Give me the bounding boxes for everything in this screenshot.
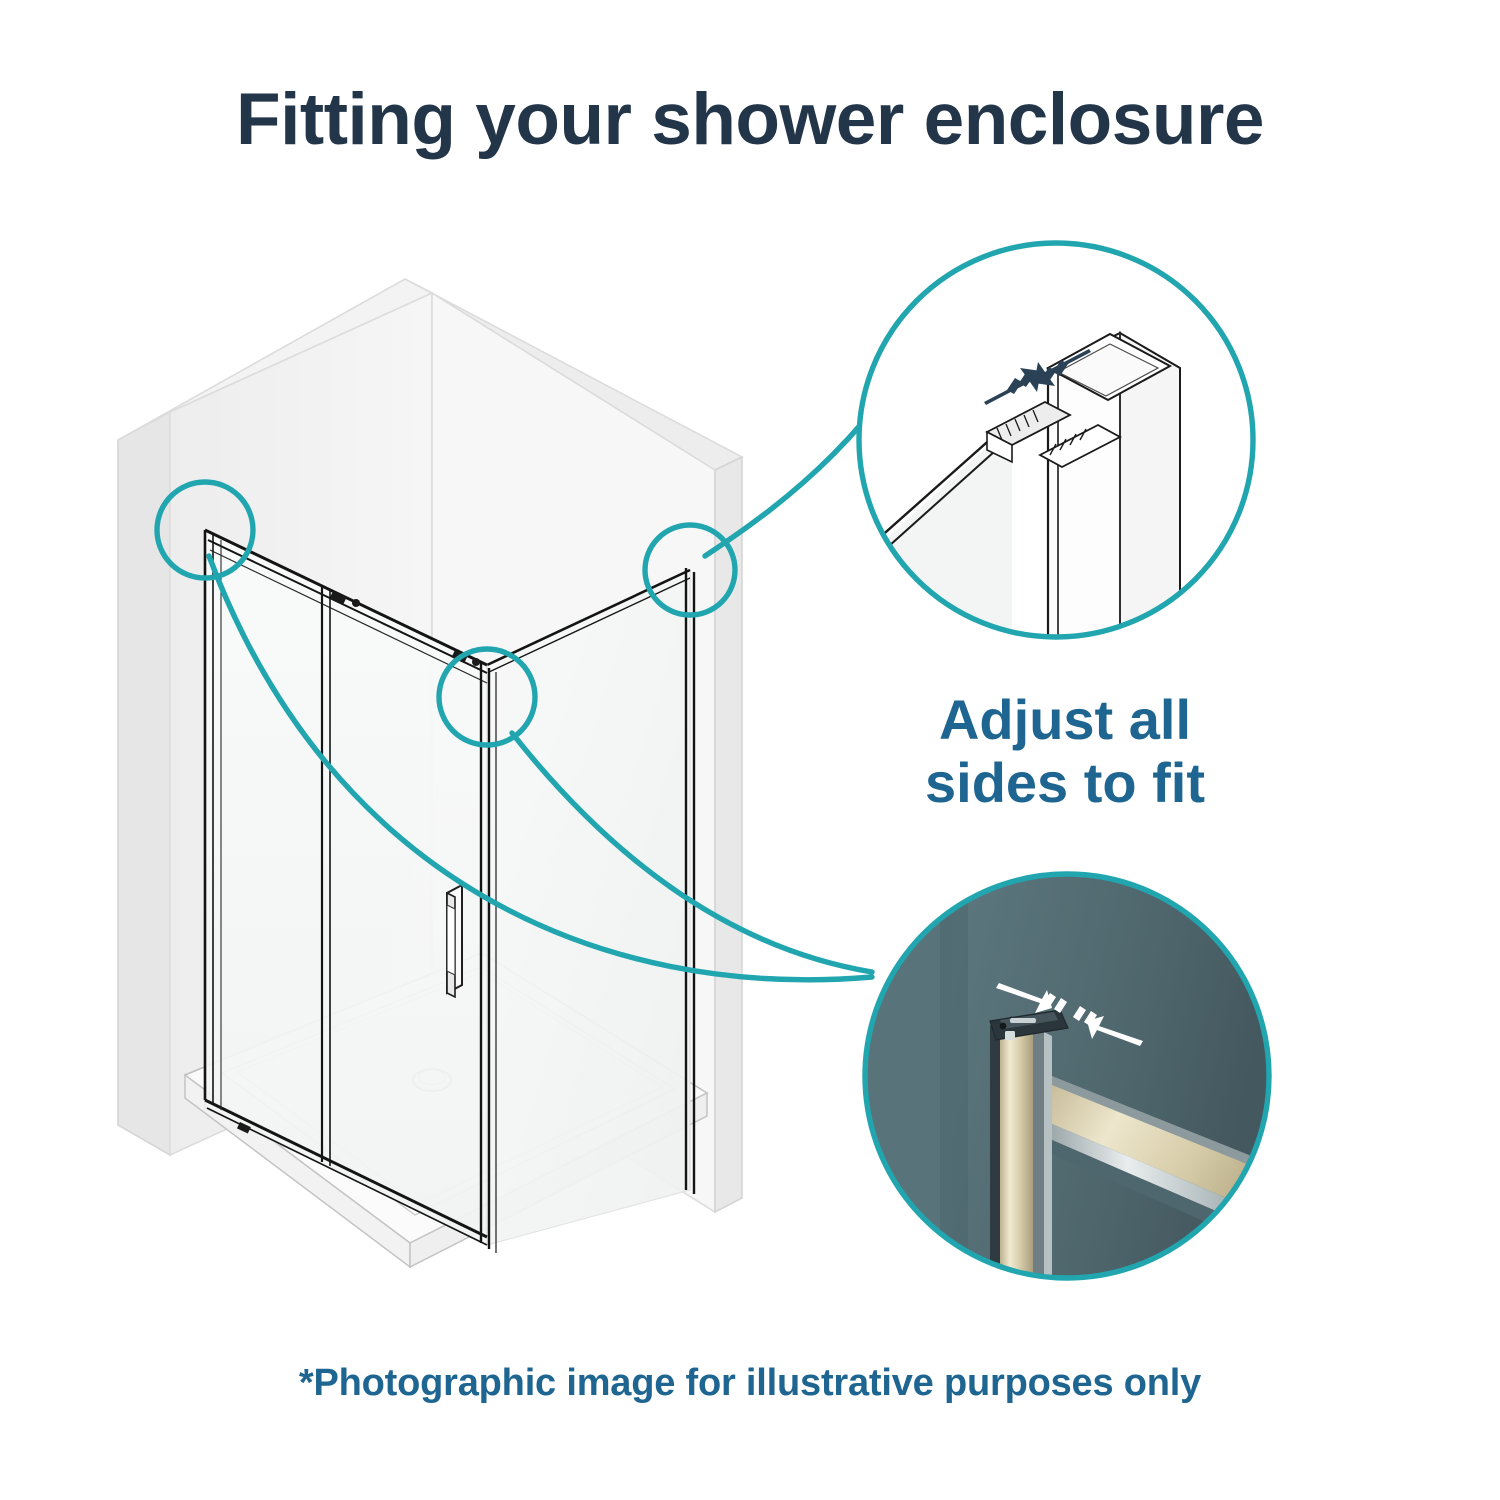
shower-tray [185, 953, 707, 1267]
tray-drain [413, 1069, 451, 1091]
door-handle [447, 885, 462, 997]
bathroom-wall-left [118, 279, 432, 1155]
hotspot-middle-corner[interactable] [439, 649, 535, 745]
side-glass-panel [487, 570, 690, 1245]
connector-top-left-to-detail-bottom [209, 556, 872, 980]
detail-bottom-ring[interactable] [865, 874, 1269, 1278]
page-title: Fitting your shower enclosure [0, 82, 1500, 159]
corner-post [481, 662, 496, 1253]
footer-disclaimer: *Photographic image for illustrative pur… [0, 1362, 1500, 1405]
sliding-door-panel [205, 530, 487, 1245]
bathroom-wall-right [405, 279, 742, 1212]
connector-middle-to-detail-bottom [512, 733, 872, 972]
adjust-arrow-icon-photo [996, 983, 1143, 1046]
connector-top-right-to-detail-top [705, 287, 952, 556]
adjust-arrow-icon [984, 349, 1091, 405]
infographic-page: Fitting your shower enclosure [0, 0, 1500, 1500]
callout-heading: Adjust all sides to fit [830, 688, 1300, 815]
detail-top-ring[interactable] [859, 243, 1253, 637]
hotspot-top-left-corner[interactable] [157, 482, 253, 578]
hotspot-top-right-corner[interactable] [645, 525, 735, 615]
callout-heading-line-2: sides to fit [830, 751, 1300, 814]
callout-heading-line-1: Adjust all [830, 688, 1300, 751]
adjustment-bracket [987, 402, 1120, 467]
right-wall-profile [686, 568, 694, 1194]
